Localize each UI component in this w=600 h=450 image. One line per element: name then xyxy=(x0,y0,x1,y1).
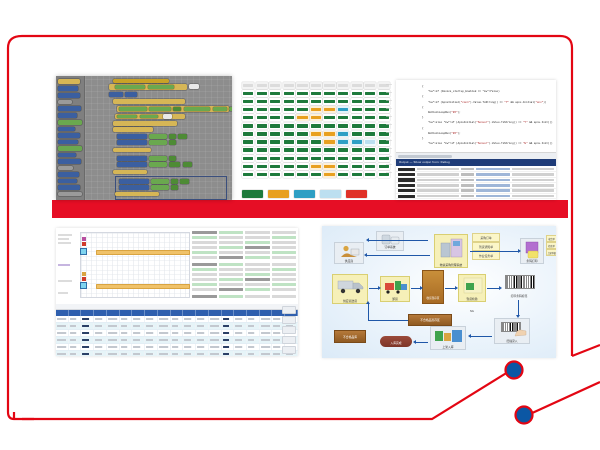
legend-swatch-standby xyxy=(320,190,341,198)
flow-label-receive-area: 收货暂存区 xyxy=(423,298,443,301)
table-cell[interactable] xyxy=(145,337,158,343)
status-cell[interactable] xyxy=(337,131,349,138)
status-cell[interactable] xyxy=(364,82,376,89)
table-cell[interactable] xyxy=(145,330,158,336)
status-cell[interactable] xyxy=(351,98,363,105)
status-cell[interactable] xyxy=(296,147,308,154)
order-table[interactable] xyxy=(56,304,298,356)
table-cell[interactable] xyxy=(260,337,273,343)
table-cell[interactable] xyxy=(145,316,158,322)
status-cell[interactable] xyxy=(242,123,254,130)
status-cell[interactable] xyxy=(337,106,349,113)
table-row[interactable] xyxy=(56,351,298,356)
status-cell[interactable] xyxy=(256,139,268,146)
status-cell[interactable] xyxy=(269,90,281,97)
annotation-cell xyxy=(192,283,217,286)
flow-arrowhead xyxy=(364,253,367,257)
status-cell[interactable] xyxy=(256,147,268,154)
table-cell[interactable] xyxy=(222,316,235,322)
status-cell[interactable] xyxy=(283,106,295,113)
flow-node-done[interactable]: 入库完成 xyxy=(380,336,412,347)
annotation-cell xyxy=(245,251,270,254)
table-cell[interactable] xyxy=(158,316,171,322)
table-cell[interactable] xyxy=(222,351,235,356)
table-cell[interactable] xyxy=(94,351,107,356)
table-cell[interactable] xyxy=(81,337,94,343)
table-cell[interactable] xyxy=(171,351,184,356)
annotation-cell xyxy=(245,241,270,244)
status-cell[interactable] xyxy=(256,171,268,178)
table-cell[interactable] xyxy=(158,344,171,350)
side-button[interactable] xyxy=(282,346,296,354)
status-cell[interactable] xyxy=(242,82,254,89)
table-cell[interactable] xyxy=(247,351,260,356)
table-cell[interactable] xyxy=(120,337,133,343)
table-cell[interactable] xyxy=(222,337,235,343)
status-cell[interactable] xyxy=(242,98,254,105)
gantt-chart[interactable] xyxy=(56,228,298,302)
status-cell[interactable] xyxy=(283,114,295,121)
table-cell[interactable] xyxy=(171,337,184,343)
table-cell[interactable] xyxy=(260,344,273,350)
status-grid-cells[interactable] xyxy=(242,82,390,178)
status-cell[interactable] xyxy=(269,114,281,121)
screenshot-logistics-flowchart[interactable]: 供应商 订单系统 物资采购管理系统 采购订单 到货通知单 作业任务单 xyxy=(322,226,556,358)
table-cell[interactable] xyxy=(69,330,82,336)
status-cell[interactable] xyxy=(269,106,281,113)
flow-arrow xyxy=(470,251,518,252)
status-cell[interactable] xyxy=(337,90,349,97)
status-cell[interactable] xyxy=(256,82,268,89)
status-cell[interactable] xyxy=(269,155,281,162)
table-row[interactable] xyxy=(56,323,298,330)
table-cell[interactable] xyxy=(56,330,69,336)
table-cell[interactable] xyxy=(132,323,145,329)
table-cell[interactable] xyxy=(107,351,120,356)
status-cell[interactable] xyxy=(283,139,295,146)
status-cell[interactable] xyxy=(242,171,254,178)
flow-node-reject-area[interactable]: 不合格品暂存区 xyxy=(408,314,452,326)
status-cell[interactable] xyxy=(310,114,322,121)
status-cell[interactable] xyxy=(296,114,308,121)
status-cell[interactable] xyxy=(323,147,335,154)
table-cell[interactable] xyxy=(94,344,107,350)
gantt-row-headers xyxy=(56,228,78,302)
status-cell[interactable] xyxy=(296,98,308,105)
status-cell[interactable] xyxy=(351,139,363,146)
gantt-bar[interactable] xyxy=(96,250,190,255)
table-cell[interactable] xyxy=(158,337,171,343)
table-cell[interactable] xyxy=(247,330,260,336)
side-button[interactable] xyxy=(282,326,296,334)
table-cell[interactable] xyxy=(107,330,120,336)
status-cell[interactable] xyxy=(256,123,268,130)
flow-node-label-print[interactable]: 打印条码标签 xyxy=(502,274,536,298)
status-cell[interactable] xyxy=(310,147,322,154)
table-cell[interactable] xyxy=(234,316,247,322)
table-row[interactable] xyxy=(56,344,298,351)
status-cell[interactable] xyxy=(310,139,322,146)
table-cell[interactable] xyxy=(69,323,82,329)
status-cell[interactable] xyxy=(283,171,295,178)
table-cell[interactable] xyxy=(69,351,82,356)
table-cell[interactable] xyxy=(158,351,171,356)
table-cell[interactable] xyxy=(234,344,247,350)
status-cell[interactable] xyxy=(351,114,363,121)
screenshot-status-grid[interactable] xyxy=(240,80,392,200)
table-cell[interactable] xyxy=(107,323,120,329)
table-cell[interactable] xyxy=(56,323,69,329)
status-cell[interactable] xyxy=(337,155,349,162)
table-cell[interactable] xyxy=(222,330,235,336)
table-cell[interactable] xyxy=(222,344,235,350)
table-cell[interactable] xyxy=(145,323,158,329)
table-cell[interactable] xyxy=(94,330,107,336)
table-cell[interactable] xyxy=(196,351,209,356)
status-cell[interactable] xyxy=(296,171,308,178)
status-cell[interactable] xyxy=(283,155,295,162)
table-cell[interactable] xyxy=(94,323,107,329)
flow-node-putaway[interactable]: 上架入库 xyxy=(430,326,466,350)
table-cell[interactable] xyxy=(234,323,247,329)
status-cell[interactable] xyxy=(283,123,295,130)
table-cell[interactable] xyxy=(209,316,222,322)
status-cell[interactable] xyxy=(296,82,308,89)
status-cell[interactable] xyxy=(256,98,268,105)
table-cell[interactable] xyxy=(56,337,69,343)
flow-node-supplier[interactable]: 供应商 xyxy=(334,242,364,264)
table-cell[interactable] xyxy=(247,323,260,329)
flow-node-receive-area[interactable]: 收货暂存区 xyxy=(422,270,444,304)
table-cell[interactable] xyxy=(183,351,196,356)
table-side-buttons[interactable] xyxy=(281,304,297,355)
status-cell[interactable] xyxy=(364,139,376,146)
table-cell[interactable] xyxy=(69,337,82,343)
table-cell[interactable] xyxy=(209,337,222,343)
output-log-header: Output — Show output from: Debug xyxy=(396,159,556,166)
status-cell[interactable] xyxy=(269,131,281,138)
flow-node-transport[interactable]: 供应商送货 xyxy=(332,274,368,304)
status-cell[interactable] xyxy=(337,147,349,154)
status-cell[interactable] xyxy=(242,139,254,146)
status-cell[interactable] xyxy=(310,82,322,89)
table-cell[interactable] xyxy=(158,330,171,336)
status-cell[interactable] xyxy=(269,171,281,178)
legend-swatch-error xyxy=(346,190,367,198)
status-cell[interactable] xyxy=(269,147,281,154)
status-cell[interactable] xyxy=(310,131,322,138)
flow-node-unload[interactable]: 卸货 xyxy=(380,276,410,302)
status-cell[interactable] xyxy=(283,147,295,154)
flow-tag-task-order: 作业任务单 xyxy=(472,251,500,260)
blocks-palette[interactable] xyxy=(56,76,85,200)
table-cell[interactable] xyxy=(120,316,133,322)
status-cell[interactable] xyxy=(351,155,363,162)
status-cell[interactable] xyxy=(296,155,308,162)
table-cell[interactable] xyxy=(209,344,222,350)
annotation-cell xyxy=(192,231,217,234)
flow-node-reject-store[interactable]: 不合格品库 xyxy=(334,330,366,343)
status-cell[interactable] xyxy=(310,90,322,97)
status-cell[interactable] xyxy=(242,131,254,138)
status-cell[interactable] xyxy=(296,123,308,130)
status-cell[interactable] xyxy=(323,155,335,162)
side-button[interactable] xyxy=(282,306,296,314)
table-cell[interactable] xyxy=(183,323,196,329)
table-cell[interactable] xyxy=(196,344,209,350)
status-cell[interactable] xyxy=(364,163,376,170)
status-cell[interactable] xyxy=(323,82,335,89)
table-row[interactable] xyxy=(56,316,298,323)
status-cell[interactable] xyxy=(364,123,376,130)
status-cell[interactable] xyxy=(256,106,268,113)
table-cell[interactable] xyxy=(209,330,222,336)
status-cell[interactable] xyxy=(364,171,376,178)
status-cell[interactable] xyxy=(296,139,308,146)
table-cell[interactable] xyxy=(158,323,171,329)
status-cell[interactable] xyxy=(283,82,295,89)
flow-tag-inspection: 检验单 xyxy=(546,242,556,249)
table-cell[interactable] xyxy=(247,337,260,343)
status-cell[interactable] xyxy=(283,131,295,138)
flow-node-inspection[interactable]: 到货检验 xyxy=(458,274,486,302)
table-cell[interactable] xyxy=(171,344,184,350)
table-cell[interactable] xyxy=(120,323,133,329)
status-cell[interactable] xyxy=(351,131,363,138)
gantt-milestone[interactable] xyxy=(80,282,87,289)
table-cell[interactable] xyxy=(196,337,209,343)
table-cell[interactable] xyxy=(132,351,145,356)
table-cell[interactable] xyxy=(132,344,145,350)
status-cell[interactable] xyxy=(269,163,281,170)
status-cell[interactable] xyxy=(364,147,376,154)
flow-node-printer[interactable]: 条码打印 xyxy=(520,238,544,264)
status-cell[interactable] xyxy=(242,163,254,170)
status-cell[interactable] xyxy=(256,90,268,97)
status-cell[interactable] xyxy=(364,90,376,97)
output-log-rows[interactable] xyxy=(396,166,556,200)
table-cell[interactable] xyxy=(81,344,94,350)
annotation-cell xyxy=(245,273,270,276)
side-button[interactable] xyxy=(282,316,296,324)
status-cell[interactable] xyxy=(242,155,254,162)
table-cell[interactable] xyxy=(171,316,184,322)
status-cell[interactable] xyxy=(269,82,281,89)
table-cell[interactable] xyxy=(132,330,145,336)
status-cell[interactable] xyxy=(256,155,268,162)
status-cell[interactable] xyxy=(310,98,322,105)
status-cell[interactable] xyxy=(242,114,254,121)
log-row[interactable] xyxy=(396,199,556,200)
status-cell[interactable] xyxy=(310,155,322,162)
table-cell[interactable] xyxy=(56,351,69,356)
annotation-cell xyxy=(272,246,297,249)
status-cell[interactable] xyxy=(323,163,335,170)
status-cell[interactable] xyxy=(337,139,349,146)
flow-arrow xyxy=(518,300,519,315)
status-cell[interactable] xyxy=(310,163,322,170)
table-cell[interactable] xyxy=(145,344,158,350)
table-cell[interactable] xyxy=(183,344,196,350)
status-cell[interactable] xyxy=(337,163,349,170)
flow-label-reject-area: 不合格品暂存区 xyxy=(409,319,451,322)
status-cell[interactable] xyxy=(242,106,254,113)
table-cell[interactable] xyxy=(196,323,209,329)
table-cell[interactable] xyxy=(132,337,145,343)
screenshot-blocks-editor[interactable] xyxy=(56,76,232,200)
table-cell[interactable] xyxy=(69,316,82,322)
table-cell[interactable] xyxy=(247,316,260,322)
table-cell[interactable] xyxy=(183,337,196,343)
gantt-milestone[interactable] xyxy=(80,248,87,255)
status-cell[interactable] xyxy=(351,82,363,89)
status-cell[interactable] xyxy=(296,106,308,113)
table-cell[interactable] xyxy=(132,316,145,322)
table-cell[interactable] xyxy=(183,316,196,322)
table-cell[interactable] xyxy=(247,344,260,350)
table-cell[interactable] xyxy=(260,351,273,356)
table-cell[interactable] xyxy=(260,323,273,329)
status-cell[interactable] xyxy=(283,98,295,105)
status-cell[interactable] xyxy=(364,114,376,121)
status-cell[interactable] xyxy=(283,90,295,97)
table-cell[interactable] xyxy=(196,316,209,322)
status-cell[interactable] xyxy=(351,163,363,170)
table-cell[interactable] xyxy=(120,344,133,350)
status-cell[interactable] xyxy=(351,90,363,97)
status-cell[interactable] xyxy=(269,123,281,130)
annotation-cell xyxy=(272,278,297,281)
table-cell[interactable] xyxy=(260,330,273,336)
screenshot-code-editor[interactable]: {"kw">if (Device_startup_Enabled == "kw"… xyxy=(396,80,556,200)
status-cell[interactable] xyxy=(364,131,376,138)
flow-node-scan-in[interactable]: 扫描录入 xyxy=(494,318,530,344)
status-cell[interactable] xyxy=(351,147,363,154)
flow-arrowhead xyxy=(378,286,381,290)
gantt-marker xyxy=(82,272,86,276)
status-cell[interactable] xyxy=(337,114,349,121)
annotation-block xyxy=(192,263,296,291)
table-cell[interactable] xyxy=(209,351,222,356)
status-cell[interactable] xyxy=(296,90,308,97)
status-cell[interactable] xyxy=(296,131,308,138)
status-cell[interactable] xyxy=(310,171,322,178)
flow-node-erp[interactable]: 物资采购管理系统 xyxy=(434,234,468,268)
status-cell[interactable] xyxy=(323,171,335,178)
table-cell[interactable] xyxy=(120,330,133,336)
status-cell[interactable] xyxy=(364,155,376,162)
code-horizontal-scrollbar[interactable] xyxy=(396,152,556,159)
table-cell[interactable] xyxy=(56,344,69,350)
table-cell[interactable] xyxy=(107,344,120,350)
table-cell[interactable] xyxy=(94,337,107,343)
annotation-cell xyxy=(272,241,297,244)
status-cell[interactable] xyxy=(323,98,335,105)
status-cell[interactable] xyxy=(364,106,376,113)
table-cell[interactable] xyxy=(145,351,158,356)
status-cell[interactable] xyxy=(351,123,363,130)
table-cell[interactable] xyxy=(171,323,184,329)
annotation-cell xyxy=(219,288,244,291)
status-cell[interactable] xyxy=(337,98,349,105)
table-body[interactable] xyxy=(56,316,298,356)
table-cell[interactable] xyxy=(81,330,94,336)
status-cell[interactable] xyxy=(323,106,335,113)
flow-tag-putaway: 上架单据 xyxy=(546,249,556,256)
annotation-cell xyxy=(192,241,217,244)
annotation-cell xyxy=(272,273,297,276)
status-cell[interactable] xyxy=(269,98,281,105)
table-cell[interactable] xyxy=(234,337,247,343)
status-cell[interactable] xyxy=(269,139,281,146)
status-cell[interactable] xyxy=(364,98,376,105)
status-cell[interactable] xyxy=(337,123,349,130)
table-cell[interactable] xyxy=(209,323,222,329)
annotation-block xyxy=(192,231,296,259)
status-grid-legend xyxy=(242,189,367,198)
table-cell[interactable] xyxy=(56,316,69,322)
status-cell[interactable] xyxy=(337,171,349,178)
table-cell[interactable] xyxy=(81,316,94,322)
annotation-cell xyxy=(245,268,270,271)
table-row[interactable] xyxy=(56,337,298,344)
code-line: "kw">else "kw">if (ApnsInitial("Sensor")… xyxy=(418,120,553,125)
flow-label-reject-store: 不合格品库 xyxy=(335,336,365,339)
gantt-bar[interactable] xyxy=(96,284,190,289)
status-cell[interactable] xyxy=(351,171,363,178)
annotation-cell xyxy=(272,236,297,239)
status-cell[interactable] xyxy=(337,82,349,89)
status-cell[interactable] xyxy=(323,123,335,130)
status-cell[interactable] xyxy=(256,131,268,138)
table-cell[interactable] xyxy=(196,330,209,336)
table-cell[interactable] xyxy=(107,316,120,322)
blocks-canvas[interactable] xyxy=(85,76,232,200)
status-cell[interactable] xyxy=(256,114,268,121)
status-cell[interactable] xyxy=(351,106,363,113)
status-cell[interactable] xyxy=(283,163,295,170)
table-cell[interactable] xyxy=(81,323,94,329)
status-cell[interactable] xyxy=(256,163,268,170)
status-cell[interactable] xyxy=(242,90,254,97)
table-cell[interactable] xyxy=(107,337,120,343)
table-cell[interactable] xyxy=(234,351,247,356)
status-cell[interactable] xyxy=(323,90,335,97)
table-cell[interactable] xyxy=(69,344,82,350)
status-cell[interactable] xyxy=(310,106,322,113)
table-cell[interactable] xyxy=(94,316,107,322)
table-cell[interactable] xyxy=(260,316,273,322)
screenshot-schedule-sheet[interactable] xyxy=(56,228,298,356)
status-cell[interactable] xyxy=(323,139,335,146)
table-cell[interactable] xyxy=(171,330,184,336)
status-cell[interactable] xyxy=(323,114,335,121)
legend-swatch-running xyxy=(294,190,315,198)
table-cell[interactable] xyxy=(183,330,196,336)
table-cell[interactable] xyxy=(120,351,133,356)
table-cell[interactable] xyxy=(234,330,247,336)
status-cell[interactable] xyxy=(310,123,322,130)
code-text-area[interactable]: {"kw">if (Device_startup_Enabled == "kw"… xyxy=(396,80,556,152)
annotation-cell xyxy=(192,295,217,298)
table-cell[interactable] xyxy=(222,323,235,329)
table-row[interactable] xyxy=(56,330,298,337)
status-cell[interactable] xyxy=(323,131,335,138)
table-cell[interactable] xyxy=(81,351,94,356)
side-button[interactable] xyxy=(282,336,296,344)
status-cell[interactable] xyxy=(296,163,308,170)
status-cell[interactable] xyxy=(242,147,254,154)
